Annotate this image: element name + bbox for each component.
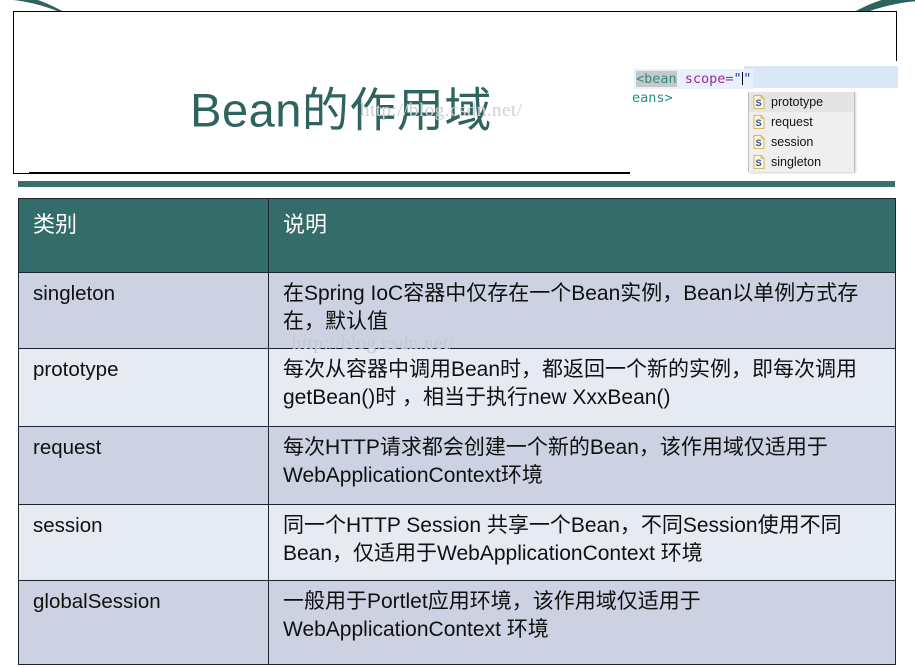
s-schema-icon: S	[753, 95, 765, 109]
svg-text:S: S	[756, 158, 762, 168]
code-token-bean-tag: <bean	[636, 71, 677, 87]
cell-description: 每次从容器中调用Bean时，都返回一个新的实例，即每次调用getBean()时 …	[269, 349, 896, 427]
svg-text:S: S	[756, 118, 762, 128]
cell-category: singleton	[19, 273, 269, 349]
table-row: session 同一个HTTP Session 共享一个Bean，不同Sessi…	[19, 505, 896, 581]
svg-text:S: S	[756, 138, 762, 148]
code-line-bean-tag: <bean scope=""	[634, 69, 753, 89]
s-schema-icon: S	[753, 115, 765, 129]
svg-text:S: S	[756, 98, 762, 108]
code-token-scope-attr: scope=	[677, 71, 734, 87]
cell-category: session	[19, 505, 269, 581]
autocomplete-item-prototype[interactable]: S prototype	[749, 92, 854, 112]
column-header-description: 说明	[269, 199, 896, 273]
s-schema-icon: S	[753, 155, 765, 169]
autocomplete-item-session[interactable]: S session	[749, 132, 854, 152]
slide-canvas: Bean的作用域 http://blog.csdn.net/ <bean sco…	[0, 0, 915, 668]
bean-scope-table: 类别 说明 singleton 在Spring IoC容器中仅存在一个Bean实…	[18, 198, 896, 665]
code-line-closing-tag: eans>	[632, 90, 673, 106]
table-row: globalSession 一般用于Portlet应用环境，该作用域仅适用于We…	[19, 581, 896, 665]
cell-description: 每次HTTP请求都会创建一个新的Bean，该作用域仅适用于WebApplicat…	[269, 427, 896, 505]
autocomplete-item-label: request	[771, 115, 813, 129]
s-schema-icon: S	[753, 135, 765, 149]
cell-category: prototype	[19, 349, 269, 427]
cell-description: 一般用于Portlet应用环境，该作用域仅适用于WebApplicationCo…	[269, 581, 896, 665]
autocomplete-item-label: prototype	[771, 95, 823, 109]
table-header-row: 类别 说明	[19, 199, 896, 273]
cell-description: 同一个HTTP Session 共享一个Bean，不同Session使用不同Be…	[269, 505, 896, 581]
table-row: request 每次HTTP请求都会创建一个新的Bean，该作用域仅适用于Web…	[19, 427, 896, 505]
autocomplete-item-label: singleton	[771, 155, 821, 169]
autocomplete-item-singleton[interactable]: S singleton	[749, 152, 854, 172]
cell-category: globalSession	[19, 581, 269, 665]
code-selection-strip	[744, 66, 898, 88]
table-row: singleton 在Spring IoC容器中仅存在一个Bean实例，Bean…	[19, 273, 896, 349]
cell-category: request	[19, 427, 269, 505]
column-header-category: 类别	[19, 199, 269, 273]
code-editor-screenshot: <bean scope="" eans> S prototype	[630, 61, 898, 176]
code-token-quote-open: "	[734, 71, 742, 87]
autocomplete-item-label: session	[771, 135, 813, 149]
accent-separator-bar	[18, 181, 895, 187]
autocomplete-item-request[interactable]: S request	[749, 112, 854, 132]
cell-description: 在Spring IoC容器中仅存在一个Bean实例，Bean以单例方式存在，默认…	[269, 273, 896, 349]
code-token-quote-close: "	[743, 71, 751, 87]
autocomplete-popup[interactable]: S prototype S request	[748, 92, 855, 172]
table-row: prototype 每次从容器中调用Bean时，都返回一个新的实例，即每次调用g…	[19, 349, 896, 427]
